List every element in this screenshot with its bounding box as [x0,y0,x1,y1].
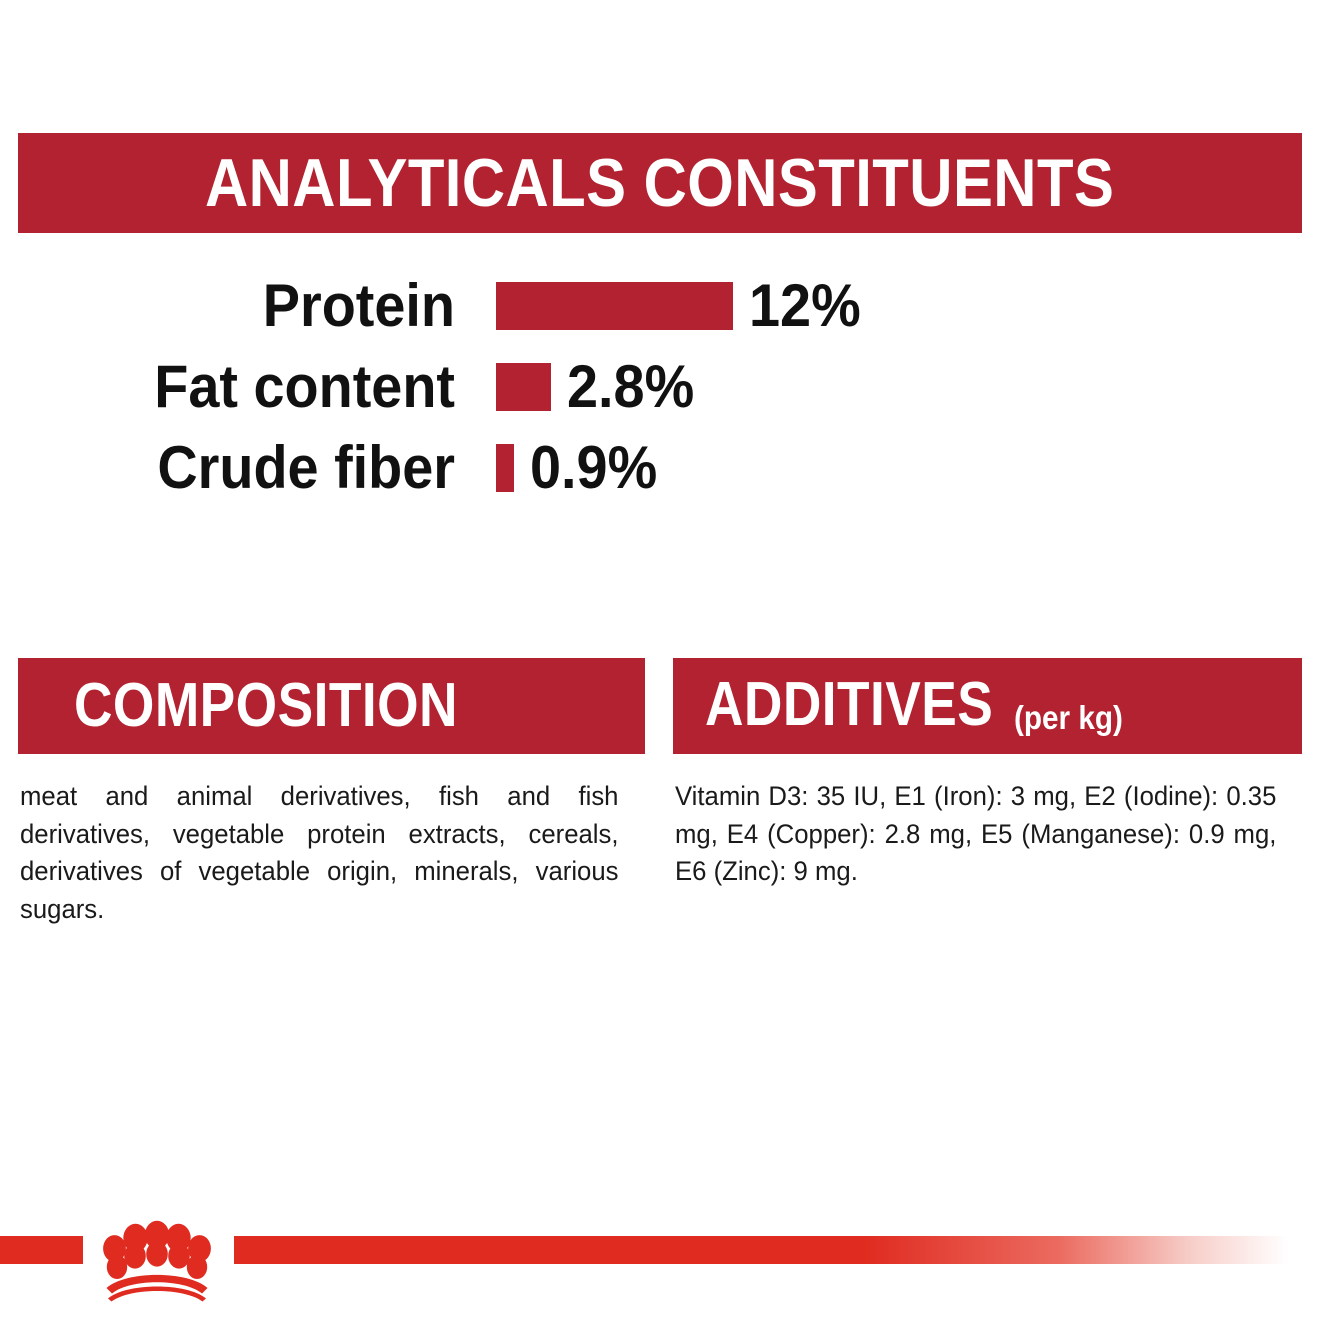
composition-section-title: COMPOSITION [74,675,458,737]
nutrient-label-protein: Protein [49,276,455,336]
nutrient-value-crude-fiber: 0.9% [530,438,657,498]
royal-canin-crown-icon [92,1218,222,1302]
nutrient-bar-crude-fiber [496,444,514,492]
bar-zone: 12% [496,270,869,342]
analyticals-section-title: ANALYTICALS CONSTITUENTS [205,149,1114,217]
nutrient-bar-protein [496,282,733,330]
nutrient-row: Crude fiber 0.9% [18,432,1302,504]
composition-section-banner: COMPOSITION [18,658,645,754]
footer-rule-right [234,1236,1320,1264]
additives-section-subtitle: (per kg) [1014,701,1123,736]
analyticals-section-banner: ANALYTICALS CONSTITUENTS [18,133,1302,233]
additives-section-title: ADDITIVES [705,674,993,736]
nutrient-value-fat-content: 2.8% [567,357,694,417]
nutrient-label-fat-content: Fat content [49,357,455,417]
additives-section-banner: ADDITIVES (per kg) [673,658,1302,754]
analytical-constituents-chart: Protein 12% Fat content 2.8% Crude fiber… [18,262,1302,512]
nutrient-row: Protein 12% [18,270,1302,342]
bar-zone: 0.9% [496,432,667,504]
product-label-page: ANALYTICALS CONSTITUENTS Protein 12% Fat… [0,0,1320,1320]
additives-body-text: Vitamin D3: 35 IU, E1 (Iron): 3 mg, E2 (… [675,778,1276,891]
nutrient-row: Fat content 2.8% [18,351,1302,423]
footer-bar [0,1236,1320,1320]
footer-rule-left [0,1236,83,1264]
nutrient-value-protein: 12% [749,276,861,336]
nutrient-bar-fat-content [496,363,551,411]
composition-body-text: meat and animal derivatives, fish and fi… [20,778,618,929]
bar-zone: 2.8% [496,351,704,423]
nutrient-label-crude-fiber: Crude fiber [49,438,455,498]
